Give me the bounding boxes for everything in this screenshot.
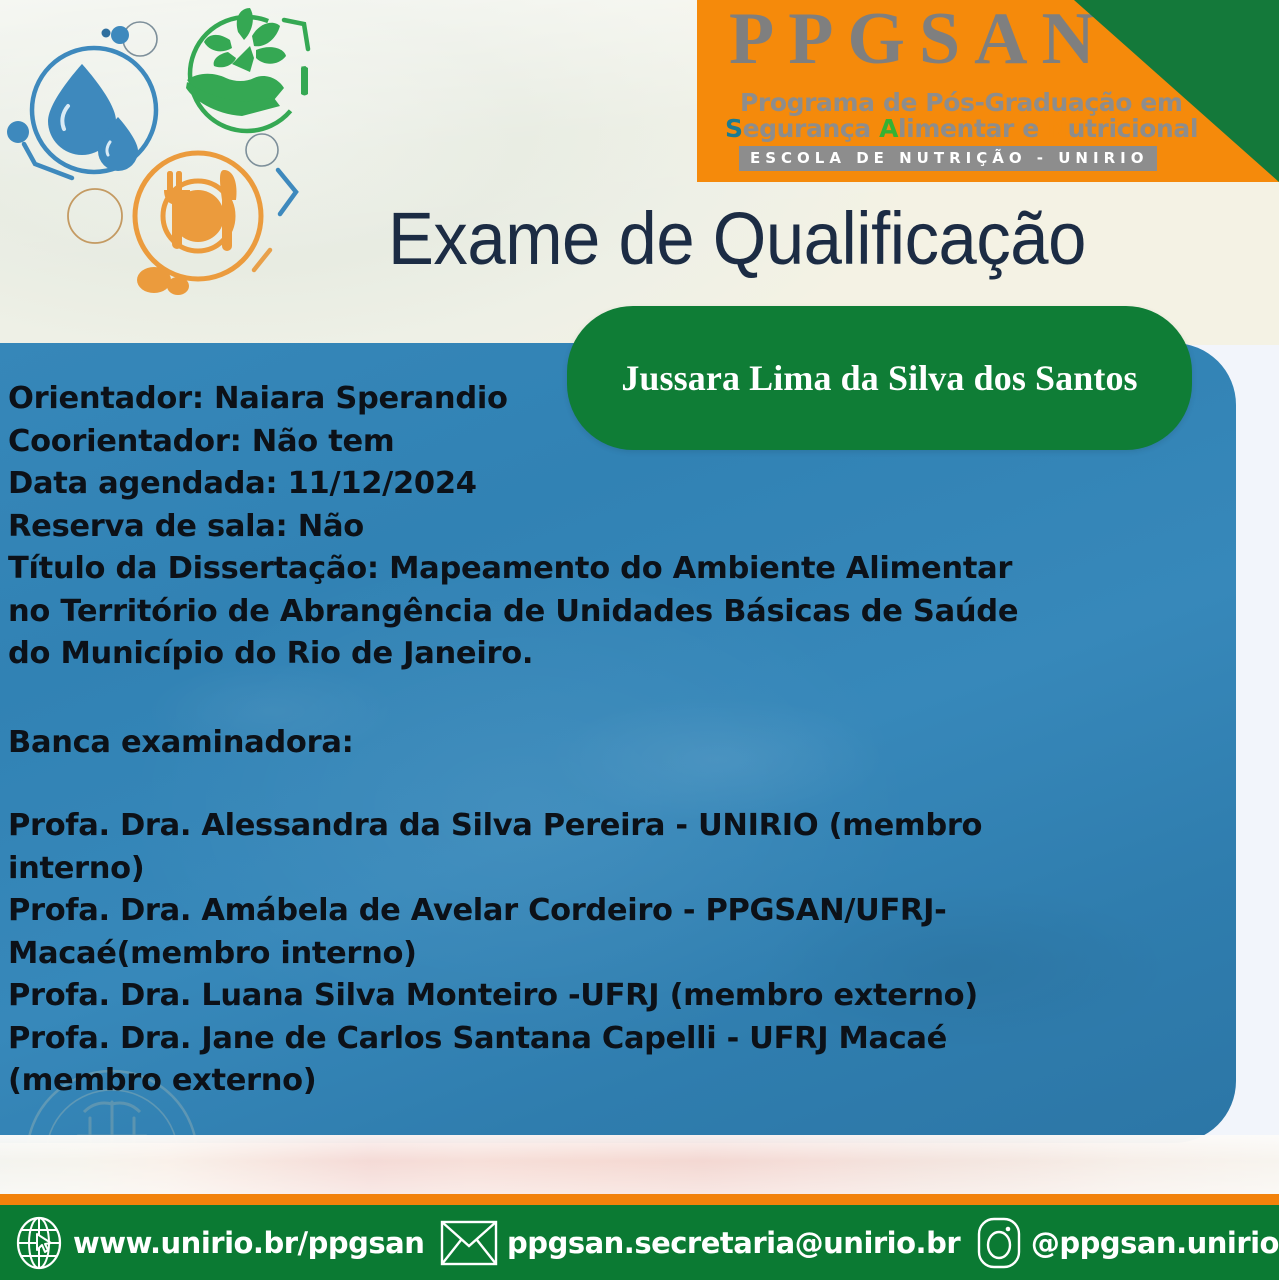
footer-orange-rule [0, 1194, 1279, 1205]
footer-email-text: ppgsan.secretaria@unirio.br [507, 1226, 960, 1260]
plate-shadow-blob-2 [167, 277, 189, 295]
plant-leaf-5 [214, 52, 236, 67]
student-name: Jussara Lima da Silva dos Santos [621, 357, 1137, 399]
deco-dot-medium [111, 26, 129, 44]
ppgsan-a-accent: A [879, 114, 898, 143]
instagram-icon [976, 1216, 1022, 1270]
sdg-icon-cluster [2, 2, 362, 322]
globe-icon [14, 1216, 64, 1270]
footer-website-text: www.unirio.br/ppgsan [73, 1226, 424, 1260]
plant-leaf-1 [204, 35, 232, 51]
fork-tine-1 [167, 171, 173, 193]
connector-right [278, 170, 296, 214]
plant-leaf-2 [237, 8, 253, 40]
plant-leaf-4 [256, 47, 286, 64]
envelope-icon [440, 1219, 498, 1267]
content-panel: NUTRIÇÃO Orientador: Naiara Sperandio Co… [0, 343, 1236, 1143]
footer-instagram-item[interactable]: @ppgsan.unirio [976, 1216, 1279, 1270]
footer-instagram-text: @ppgsan.unirio [1031, 1226, 1279, 1260]
fork-tine-2 [176, 171, 182, 193]
poster-canvas: PPGSAN Programa de Pós-Graduação em Segu… [0, 0, 1279, 1280]
banca-list: Profa. Dra. Alessandra da Silva Pereira … [8, 805, 1003, 1103]
banca-member: Profa. Dra. Jane de Carlos Santana Capel… [8, 1018, 1003, 1103]
deco-circle-outline-top [123, 22, 157, 56]
ppgsan-logo-block: PPGSAN Programa de Pós-Graduação em Segu… [697, 0, 1279, 182]
info-reserva-sala: Reserva de sala: Não [8, 506, 1048, 549]
student-name-badge: Jussara Lima da Silva dos Santos [567, 306, 1192, 450]
deco-dot-small [102, 29, 111, 38]
banca-heading: Banca examinadora: [8, 722, 354, 765]
banca-member: Profa. Dra. Luana Silva Monteiro -UFRJ (… [8, 975, 1003, 1018]
plate-shadow-blob-1 [137, 267, 171, 293]
deco-circle-outline-bottom [68, 189, 122, 243]
logo-green-wedge [1074, 0, 1279, 182]
page-title: Exame de Qualificação [388, 196, 1188, 281]
plant-leaf-accent [301, 67, 308, 96]
ppgsan-limentar-e: limentar e [898, 114, 1047, 143]
ppgsan-acronym: PPGSAN [729, 2, 1109, 76]
footer-bar: www.unirio.br/ppgsan ppgsan.secretaria@u… [0, 1205, 1279, 1280]
footer-website-item[interactable]: www.unirio.br/ppgsan [14, 1216, 424, 1270]
deco-circle-outline-right [246, 134, 278, 166]
food-photo-strip-veil [0, 1135, 1279, 1200]
banca-member: Profa. Dra. Alessandra da Silva Pereira … [8, 805, 1003, 890]
info-titulo-dissertacao: Título da Dissertação: Mapeamento do Amb… [8, 548, 1048, 676]
deco-dot-left [7, 121, 29, 143]
ppgsan-s-accent: S [725, 114, 743, 143]
footer-email-item[interactable]: ppgsan.secretaria@unirio.br [440, 1219, 960, 1267]
banca-member: Profa. Dra. Amábela de Avelar Cordeiro -… [8, 890, 1003, 975]
icon-cluster-svg [2, 2, 362, 322]
info-data-agendada: Data agendada: 11/12/2024 [8, 463, 1048, 506]
ppgsan-egurança: egurança [743, 114, 879, 143]
plant-ring-bracket [284, 20, 308, 49]
ppgsan-n-accent: N [1047, 114, 1068, 143]
connector-orange [254, 250, 270, 270]
plant-leaf-3 [252, 23, 280, 46]
